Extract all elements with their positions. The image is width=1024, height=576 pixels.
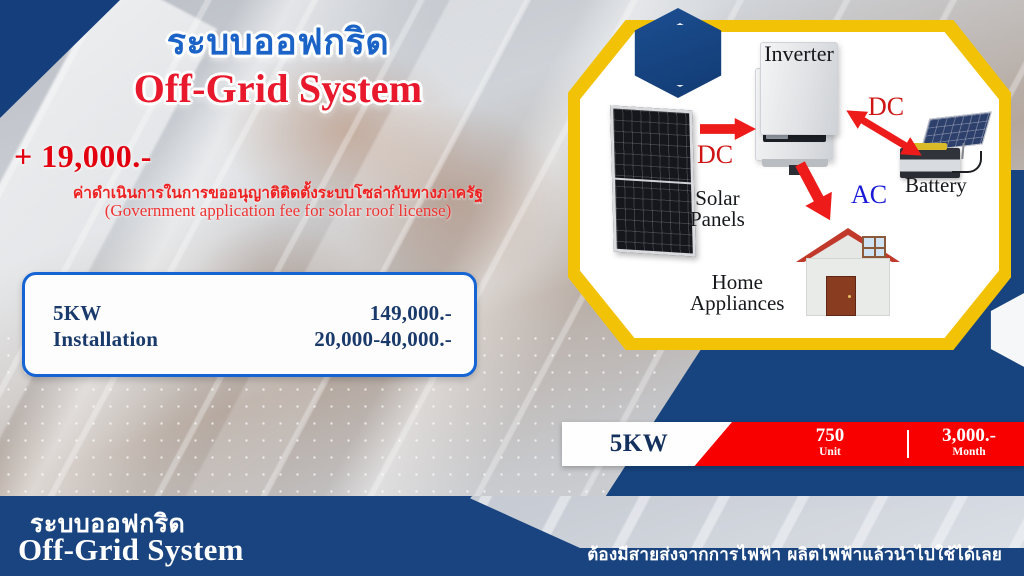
price-row: 5KW 149,000.- [53,301,452,326]
house-window-icon [862,236,886,258]
price-row-label: Installation [53,327,158,352]
house-icon [800,228,896,316]
government-fee-amount: + 19,000.- [14,138,152,175]
solar-panel-icon [610,105,696,256]
diagram-label-battery: Battery [905,175,967,196]
diagram-label-solar-line1: Solar [690,188,745,209]
diagram-label-solar-panels: Solar Panels [690,188,745,231]
footer-title-english: Off-Grid System [18,532,244,568]
price-row: Installation 20,000-40,000.- [53,327,452,352]
spec-month-label: Month [914,446,1024,459]
flow-label-dc-panel: DC [697,140,733,170]
price-row-value: 149,000.- [370,301,452,326]
headline-thai: ระบบออฟกริด [0,24,556,62]
spec-divider [907,430,909,458]
price-row-label: 5KW [53,301,101,326]
house-door-icon [826,276,856,316]
spec-unit-value: 750 [780,426,880,446]
diagram-label-home-line1: Home [690,272,784,293]
diagram-label-home-appliances: Home Appliances [690,272,784,315]
headline-english: Off-Grid System [0,69,556,109]
spec-capacity-label: 5KW [610,430,668,458]
spec-banner: 5KW 750 Unit 3,000.- Month [562,422,1024,466]
poster-canvas: ระบบออฟกริด Off-Grid System + 19,000.- ค… [0,0,1024,576]
government-fee-english-note: (Government application fee for solar ro… [0,201,556,221]
spec-unit-label: Unit [780,446,880,459]
price-row-value: 20,000-40,000.- [314,327,452,352]
battery-cable-icon [952,151,982,173]
arrow-inverter-battery-icon [840,104,928,162]
footer-bar: ระบบออฟกริด Off-Grid System ต้องมีสายส่ง… [0,496,1024,576]
flow-label-ac-home: AC [851,180,887,210]
price-card: 5KW 149,000.- Installation 20,000-40,000… [22,272,477,377]
diagram-label-home-line2: Appliances [690,293,784,314]
spec-cell-month: 3,000.- Month [914,426,1024,459]
footer-tagline: ต้องมีสายส่งจากการไฟฟ้า ผลิตไฟฟ้าแล้วนำไ… [587,541,1002,568]
diagram-label-inverter: Inverter [760,42,838,135]
spec-capacity-block: 5KW [562,422,732,466]
headline-block: ระบบออฟกริด Off-Grid System [0,24,556,109]
spec-month-value: 3,000.- [914,426,1024,446]
diagram-label-solar-line2: Panels [690,209,745,230]
spec-cell-unit: 750 Unit [780,426,880,459]
